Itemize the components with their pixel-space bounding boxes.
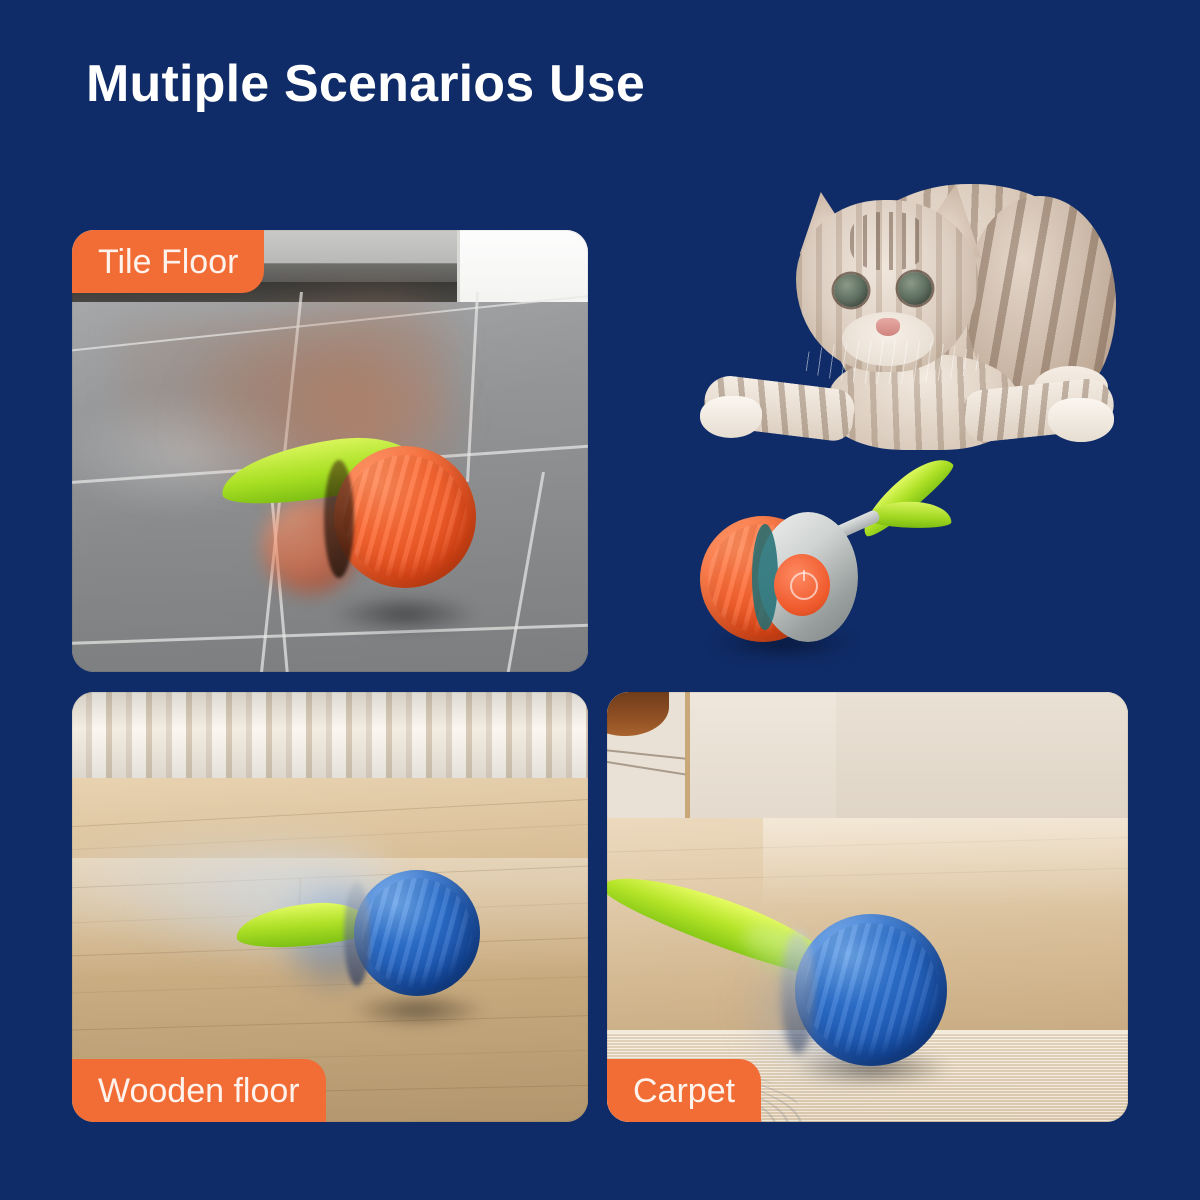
kitten-forehead-stripes [850,212,926,270]
plank-seam [72,796,588,829]
ball-shadow [348,992,488,1028]
infographic-canvas: Mutiple Scenarios Use [0,0,1200,1200]
ball-toy-orange [334,446,476,588]
badge-label: Carpet [633,1074,735,1108]
ball-ring-band [781,930,815,1054]
badge-wooden-floor: Wooden floor [72,1059,326,1122]
kitten-whiskers [798,340,984,384]
ball-texture [804,923,938,1057]
panel-tile-floor[interactable]: Tile Floor [72,230,588,672]
grout-line [72,620,588,647]
kitten-eye-right [898,272,932,305]
feather-body [853,448,958,543]
tile-floor-photo [72,230,588,672]
floor-sheen [763,818,1128,908]
art-line [607,760,690,779]
badge-label: Wooden floor [98,1074,300,1108]
badge-label: Tile Floor [98,245,238,279]
wall-right [836,692,1128,832]
hero-kitten-scene [660,170,1130,660]
panel-wooden-floor[interactable]: Wooden floor [72,692,588,1122]
kitten-eye-left [834,274,868,307]
ball-ring-band [324,460,354,578]
hero-feather [846,456,965,543]
kitten-nose [876,318,900,336]
wooden-floor-photo [72,692,588,1122]
framed-art [607,692,690,820]
tile-surface [72,302,588,672]
ball-shadow [330,594,480,634]
badge-tile-floor: Tile Floor [72,230,264,293]
ball-texture [362,878,473,989]
grout-line [502,472,544,672]
badge-carpet: Carpet [607,1059,761,1122]
power-icon [790,572,818,600]
curtain [72,692,588,784]
kitten-paw-left [700,396,762,438]
kitten [678,170,1118,490]
plank-seam [72,1013,588,1031]
kitten-paw-right [1048,398,1114,442]
hero-toy[interactable] [700,462,960,652]
ball-toy-blue [354,870,480,996]
ball-ring-band [344,882,370,986]
art-shape [607,692,669,736]
art-line [607,748,690,761]
carpet-photo [607,692,1128,1122]
panel-carpet[interactable]: Carpet [607,692,1128,1122]
ball-texture [343,455,468,580]
page-title: Mutiple Scenarios Use [86,57,645,112]
ball-toy-blue [795,914,947,1066]
